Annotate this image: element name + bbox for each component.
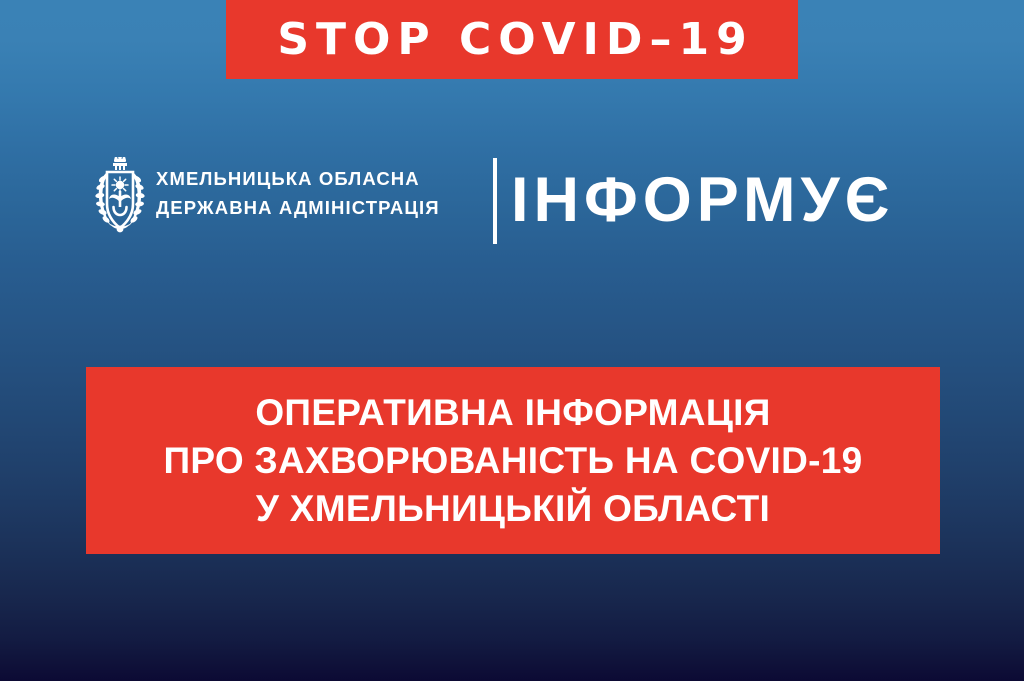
informs-heading: ІНФОРМУЄ bbox=[511, 154, 894, 246]
covid-info-poster: STOP COVID–19 bbox=[0, 0, 1024, 681]
stop-covid-banner: STOP COVID–19 bbox=[226, 0, 798, 79]
announcement-line-2: ПРО ЗАХВОРЮВАНІСТЬ НА COVID-19 bbox=[163, 437, 862, 485]
organization-name-line2: ДЕРЖАВНА АДМІНІСТРАЦІЯ bbox=[156, 193, 440, 222]
announcement-line-1: ОПЕРАТИВНА ІНФОРМАЦІЯ bbox=[255, 389, 770, 437]
stop-covid-banner-text: STOP COVID–19 bbox=[277, 18, 753, 62]
vertical-divider bbox=[493, 158, 497, 244]
header-logo-row: ХМЕЛЬНИЦЬКА ОБЛАСНА ДЕРЖАВНА АДМІНІСТРАЦ… bbox=[86, 152, 956, 252]
khmelnytskyi-oblast-coat-of-arms-icon bbox=[90, 157, 150, 243]
announcement-block: ОПЕРАТИВНА ІНФОРМАЦІЯ ПРО ЗАХВОРЮВАНІСТЬ… bbox=[86, 367, 940, 554]
announcement-line-3: У ХМЕЛЬНИЦЬКІЙ ОБЛАСТІ bbox=[256, 485, 770, 533]
organization-name: ХМЕЛЬНИЦЬКА ОБЛАСНА ДЕРЖАВНА АДМІНІСТРАЦ… bbox=[156, 164, 440, 222]
organization-name-line1: ХМЕЛЬНИЦЬКА ОБЛАСНА bbox=[156, 168, 420, 189]
